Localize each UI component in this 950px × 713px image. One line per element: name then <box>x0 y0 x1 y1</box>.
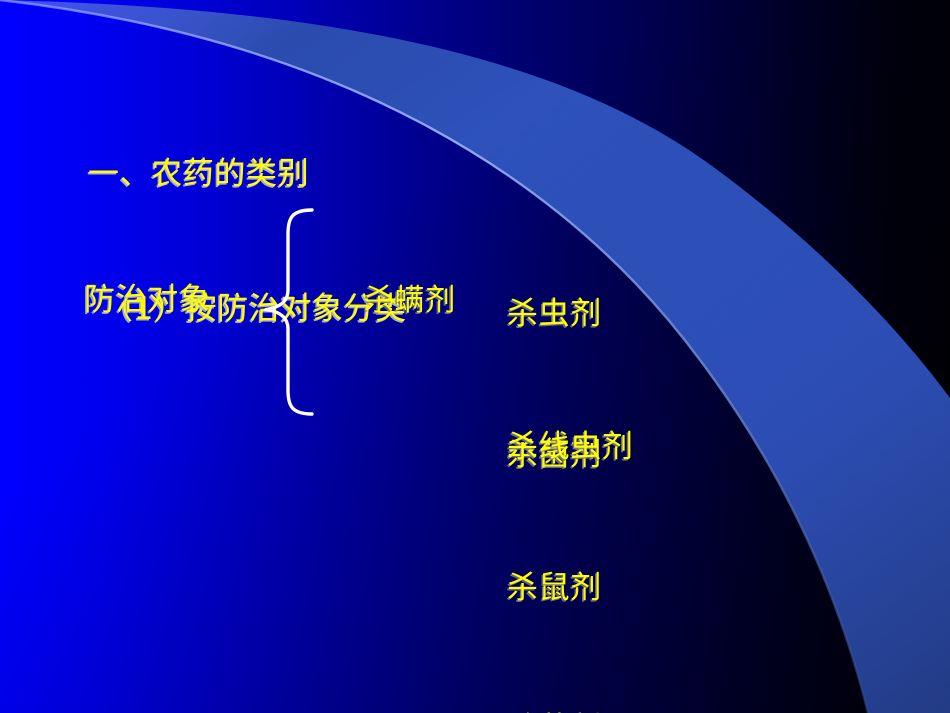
heading-line-1: 一、农药的类别 <box>88 152 407 197</box>
presentation-slide: 一、农药的类别 （1）按防治对象分类 防治对象 杀螨剂 杀虫剂 杀菌剂 杀线虫剂… <box>0 0 950 713</box>
subject-label: 防治对象 <box>84 281 210 319</box>
slide-heading: 一、农药的类别 （1）按防治对象分类 <box>88 62 407 422</box>
list-item: 杀线虫剂 <box>507 424 633 471</box>
curly-brace-icon <box>252 206 322 418</box>
list-item: 除草剂 <box>507 706 633 713</box>
list-item: 杀鼠剂 <box>507 565 633 612</box>
diagram-item-mite: 杀螨剂 <box>364 282 456 320</box>
diagram-list-bottom: 杀线虫剂 杀鼠剂 除草剂 <box>507 330 633 713</box>
